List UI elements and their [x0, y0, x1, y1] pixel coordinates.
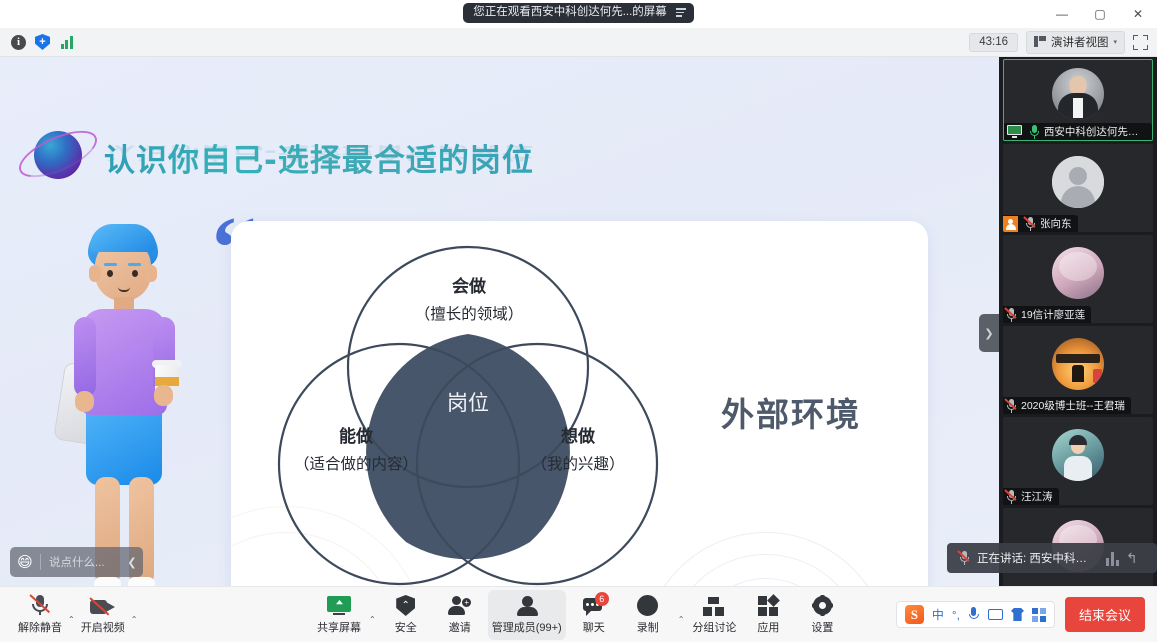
close-button[interactable]: ✕ [1119, 0, 1157, 28]
avatar [1052, 156, 1104, 208]
participants-icon [516, 594, 538, 616]
record-label: 录制 [637, 619, 659, 635]
venn-top-title: 会做 [364, 272, 574, 297]
venn-label-right: 想做 （我的兴趣） [468, 422, 688, 474]
breakout-rooms-button[interactable]: 分组讨论 [688, 590, 740, 640]
security-button[interactable]: ⌃ 安全 [380, 590, 432, 640]
speaker-view-icon [1034, 36, 1046, 47]
participant-name: 西安中科创达何先生... [1044, 124, 1146, 139]
venn-right-title: 想做 [468, 422, 688, 447]
participant-name-bar: 西安中科创达何先生... [1004, 123, 1152, 140]
screen-share-banner[interactable]: 您正在观看西安中科创达何先...的屏幕 [463, 3, 694, 24]
view-mode-label: 演讲者视图 [1051, 34, 1109, 50]
participant-tile[interactable]: 汪江涛 [1003, 417, 1153, 505]
security-label: 安全 [395, 619, 417, 635]
mic-muted-icon [1006, 399, 1017, 413]
audio-options-chevron-icon[interactable]: ⌃ [66, 615, 77, 624]
sogou-logo-icon[interactable]: S [905, 605, 924, 624]
chat-unread-badge: 6 [595, 592, 609, 606]
venn-right-sub: （我的兴趣） [468, 452, 688, 474]
bottom-toolbar-center: 共享屏幕 ⌃ ⌃ 安全 + 邀请 管理成员(99+) [313, 590, 848, 640]
chat-icon: 6 [583, 594, 605, 616]
venn-left-title: 能做 [246, 422, 466, 447]
emoji-icon[interactable]: 😄 [10, 553, 40, 571]
settings-gear-icon [812, 594, 833, 616]
mic-muted-icon [1006, 490, 1017, 504]
record-options-chevron-icon[interactable]: ⌃ [676, 615, 687, 624]
screen-share-banner-label: 您正在观看西安中科创达何先...的屏幕 [473, 7, 667, 19]
encryption-shield-button[interactable]: + [33, 33, 52, 52]
quick-chat-bar[interactable]: 😄 说点什么... ❮ [10, 547, 143, 577]
avatar [1052, 429, 1104, 481]
meeting-top-toolbar: i + 43:16 演讲者视图 ▾ [0, 28, 1157, 57]
network-quality-button[interactable] [57, 33, 76, 52]
ime-skin-icon[interactable] [1011, 608, 1024, 621]
maximize-button[interactable]: ▢ [1081, 0, 1119, 28]
participant-tile[interactable]: 张向东 [1003, 144, 1153, 232]
avatar [1052, 247, 1104, 299]
settings-button[interactable]: 设置 [796, 590, 848, 640]
invite-label: 邀请 [449, 619, 471, 635]
record-button[interactable]: 录制 [622, 590, 674, 640]
share-screen-label: 共享屏幕 [317, 619, 361, 635]
external-environment-label: 外部环境 [721, 388, 861, 436]
fullscreen-icon[interactable] [1133, 35, 1148, 50]
participant-name-bar: 汪江涛 [1003, 488, 1059, 505]
shield-icon: + [35, 34, 50, 50]
share-options-chevron-icon[interactable]: ⌃ [367, 615, 378, 624]
top-toolbar-left: i + [0, 33, 76, 52]
venn-left-sub: （适合做的内容） [246, 452, 466, 474]
participant-name-bar: 19信计廖亚莲 [1003, 306, 1091, 323]
participant-tile[interactable]: 西安中科创达何先生... [1003, 59, 1153, 141]
audio-wave-icon [1106, 551, 1119, 566]
slide-title: 认识你自己-选择最合适的岗位 [104, 135, 534, 180]
meeting-bottom-toolbar: 解除静音 ⌃ 开启视频 ⌃ 共享屏幕 ⌃ ⌃ 安全 [0, 586, 1157, 642]
minimize-button[interactable]: — [1043, 0, 1081, 28]
participant-name: 汪江涛 [1021, 489, 1053, 504]
breakout-rooms-label: 分组讨论 [692, 619, 736, 635]
sogou-ime-bar[interactable]: S 中 °, [896, 601, 1055, 628]
meeting-timer: 43:16 [969, 33, 1018, 52]
end-meeting-button[interactable]: 结束会议 [1065, 597, 1145, 632]
bottom-toolbar-left: 解除静音 ⌃ 开启视频 ⌃ [0, 590, 139, 640]
participant-tile[interactable]: 2020级博士班--王君瑞 [1003, 326, 1153, 414]
participant-name: 张向东 [1040, 216, 1072, 231]
apps-label: 应用 [757, 619, 779, 635]
window-controls: — ▢ ✕ [1043, 0, 1157, 28]
meeting-info-button[interactable]: i [9, 33, 28, 52]
chat-button[interactable]: 6 聊天 [568, 590, 620, 640]
shared-screen-stage: 认识你自己-选择最合适的岗位 认识你自己-选择最合适的岗位 “ 会做 （擅长的领… [0, 57, 1000, 586]
quick-chat-input[interactable]: 说点什么... [41, 554, 121, 570]
screen-share-icon [1007, 125, 1022, 138]
avatar [1052, 338, 1104, 390]
manage-participants-button[interactable]: 管理成员(99+) [488, 590, 566, 640]
info-icon: i [11, 35, 26, 50]
unmute-label: 解除静音 [18, 619, 62, 635]
security-shield-icon: ⌃ [396, 594, 415, 616]
start-video-label: 开启视频 [81, 619, 125, 635]
chat-collapse-icon[interactable]: ❮ [121, 556, 143, 569]
panel-collapse-handle[interactable]: ❯ [979, 314, 999, 352]
participant-tile[interactable]: 19信计廖亚莲 [1003, 235, 1153, 323]
share-screen-button[interactable]: 共享屏幕 [313, 590, 365, 640]
bottom-toolbar-right: S 中 °, 结束会议 [896, 597, 1157, 632]
mic-muted-icon [1006, 308, 1017, 322]
record-icon [637, 594, 658, 616]
ime-voice-mic-icon[interactable] [968, 607, 980, 622]
venn-diagram: 会做 （擅长的领域） 能做 （适合做的内容） 想做 （我的兴趣） 岗位 [268, 242, 668, 586]
host-badge-icon [1003, 216, 1018, 232]
participant-name-bar: 2020级博士班--王君瑞 [1003, 397, 1131, 414]
chat-label: 聊天 [583, 619, 605, 635]
active-speaker-toast: 正在讲话: 西安中科创达何... ↰ [947, 543, 1157, 573]
window-titlebar: 您正在观看西安中科创达何先...的屏幕 — ▢ ✕ [0, 0, 1157, 28]
venn-label-left: 能做 （适合做的内容） [246, 422, 466, 474]
apps-button[interactable]: 应用 [742, 590, 794, 640]
top-toolbar-right: 43:16 演讲者视图 ▾ [969, 31, 1157, 54]
breakout-rooms-icon [703, 594, 725, 616]
venn-center-label: 岗位 [403, 387, 533, 417]
mic-muted-icon [1025, 217, 1036, 231]
reply-arrow-icon[interactable]: ↰ [1126, 550, 1138, 567]
zoom-meeting-window: 您正在观看西安中科创达何先...的屏幕 — ▢ ✕ i + 43:16 演讲 [0, 0, 1157, 642]
participant-name: 19信计廖亚莲 [1021, 307, 1085, 322]
participant-name: 2020级博士班--王君瑞 [1021, 398, 1125, 413]
share-screen-icon [327, 594, 351, 616]
apps-icon [758, 594, 779, 616]
ime-punctuation-icon[interactable]: °, [952, 608, 960, 622]
invite-icon: + [448, 594, 471, 616]
signal-bars-icon [61, 36, 73, 49]
active-speaker-label: 正在讲话: 西安中科创达何... [977, 550, 1097, 566]
planet-decoration-icon [18, 125, 98, 187]
avatar [1052, 68, 1104, 120]
mic-muted-icon [959, 551, 970, 565]
participants-video-panel[interactable]: 西安中科创达何先生... 张向东 19信计廖亚莲 [999, 57, 1157, 586]
unmute-button[interactable]: 解除静音 [14, 590, 66, 640]
banner-menu-icon[interactable] [676, 8, 686, 17]
view-mode-selector[interactable]: 演讲者视图 ▾ [1026, 31, 1125, 54]
character-illustration [66, 225, 194, 586]
video-options-chevron-icon[interactable]: ⌃ [129, 615, 140, 624]
participant-name-bar: 张向东 [1003, 215, 1078, 232]
invite-button[interactable]: + 邀请 [434, 590, 486, 640]
venn-top-sub: （擅长的领域） [364, 302, 574, 324]
mic-muted-icon [30, 594, 50, 616]
start-video-button[interactable]: 开启视频 [77, 590, 129, 640]
ime-mode-label[interactable]: 中 [932, 606, 944, 623]
settings-label: 设置 [811, 619, 833, 635]
venn-label-top: 会做 （擅长的领域） [364, 272, 574, 324]
ime-toolbox-icon[interactable] [1032, 608, 1046, 622]
mic-icon [1029, 125, 1040, 139]
chevron-down-icon: ▾ [1113, 38, 1117, 46]
manage-participants-label: 管理成员(99+) [492, 619, 562, 635]
camera-off-icon [90, 594, 116, 616]
ime-keyboard-icon[interactable] [988, 609, 1003, 620]
